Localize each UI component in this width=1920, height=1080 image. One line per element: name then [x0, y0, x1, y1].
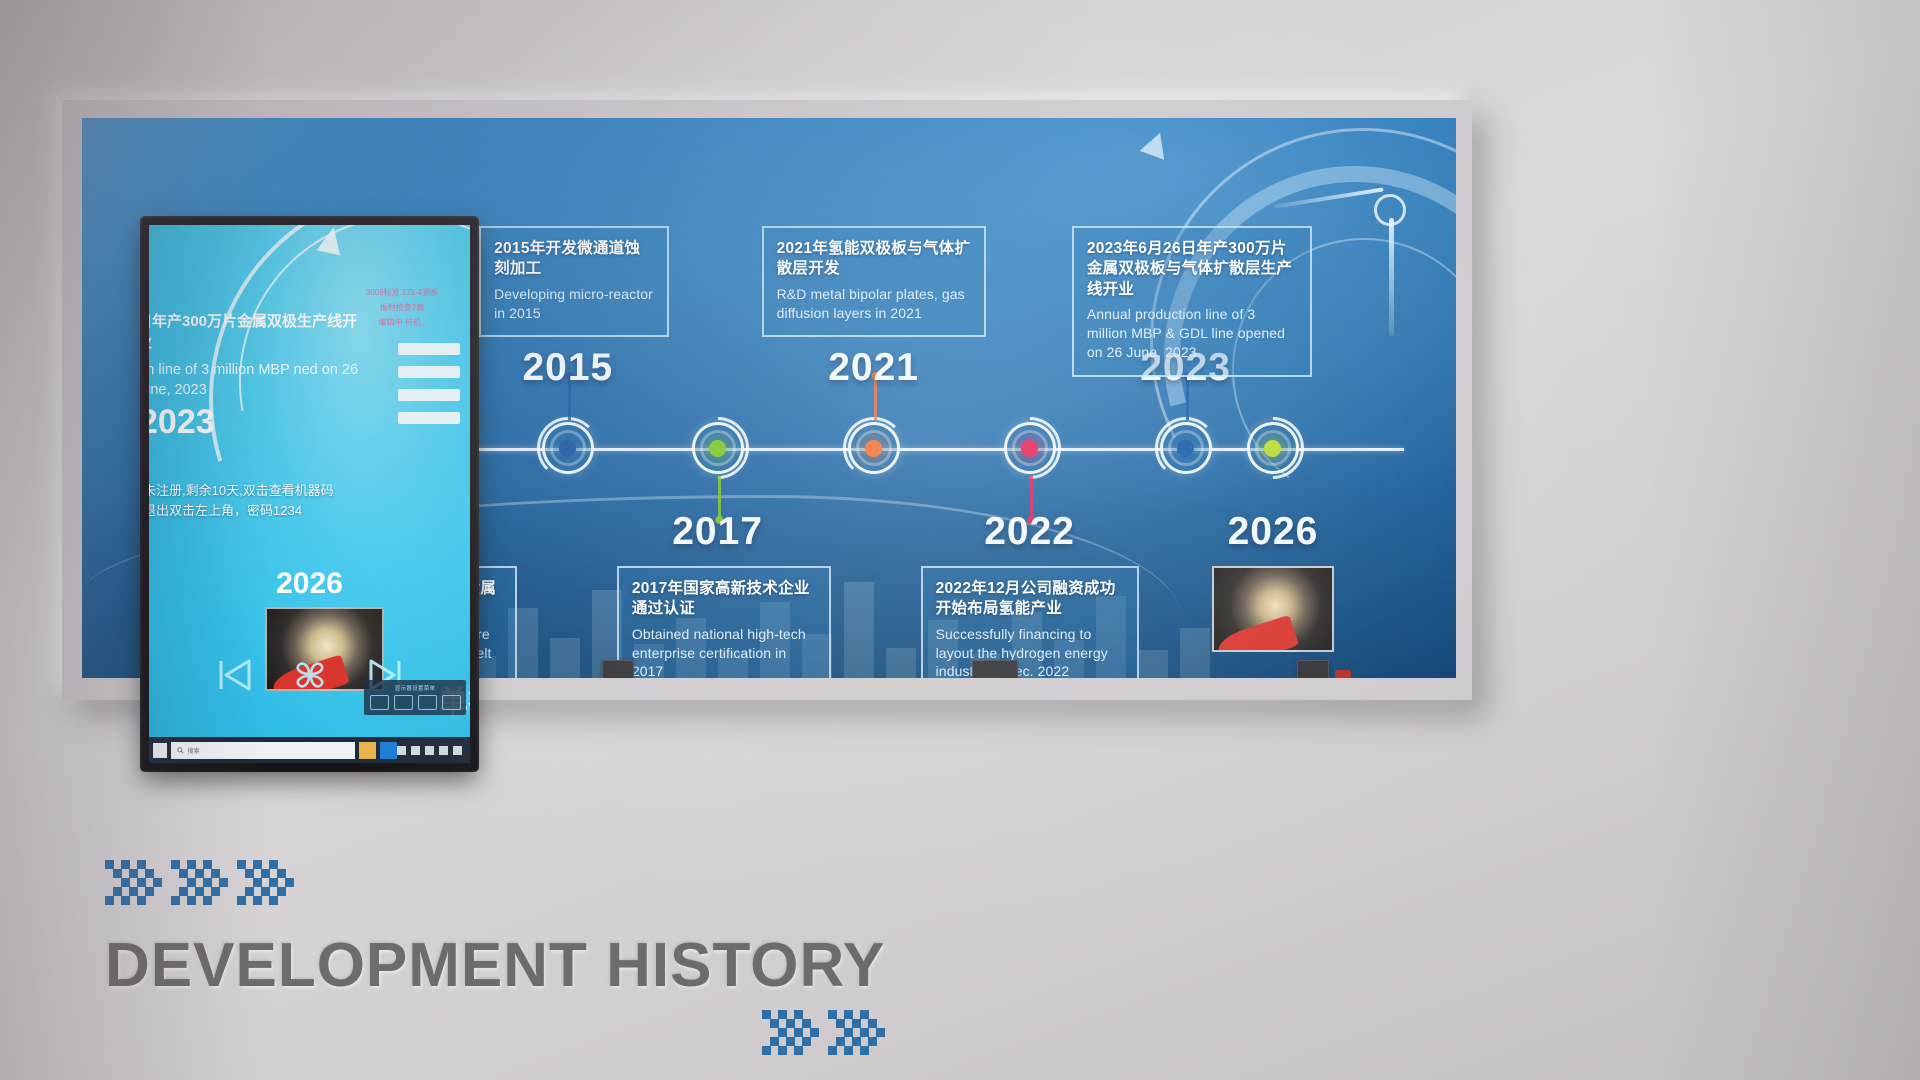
ime-icon[interactable]: [439, 746, 448, 755]
chevron-pixel: [269, 896, 278, 905]
chevron-pixel: [794, 1010, 803, 1019]
av-socket-1: [602, 660, 634, 678]
picture-icon[interactable]: [418, 695, 437, 710]
exhibit-wall-scene: 20022002年研发和生产过滤器R&D filters in 20022005…: [0, 0, 1920, 1080]
lcd-license-notice: 未注册,剩余10天,双击查看机器码 退出双击左上角，密码1234: [149, 481, 403, 520]
chevron-pixel: [770, 1037, 779, 1046]
chevron-pixel: [836, 1019, 845, 1028]
chevron-pixel: [121, 878, 130, 887]
osd-icon-row[interactable]: [367, 695, 463, 710]
timeline-card-2015: 2015年开发微通道蚀刻加工Developing micro-reactor i…: [479, 226, 669, 337]
chevron-pixel: [145, 887, 154, 896]
lcd-side-button-1[interactable]: [398, 343, 460, 355]
lcd-year-2026: 2026: [149, 567, 470, 601]
search-icon: [177, 747, 184, 754]
chevron-pixel: [137, 878, 146, 887]
chevron-pixel: [277, 887, 286, 896]
card-title-cn: 2021年氢能双极板与气体扩散层开发: [777, 239, 971, 280]
chevron-pixel: [179, 869, 188, 878]
display-niche: 20022002年研发和生产过滤器R&D filters in 20022005…: [62, 100, 1472, 700]
lcd-side-button-3[interactable]: [398, 389, 460, 401]
monitor-osd-menu[interactable]: 显示器设置菜单: [364, 680, 466, 715]
node-ring: [550, 430, 586, 466]
chevron-row-bottom: [762, 1010, 878, 1054]
chevron-pixel: [245, 869, 254, 878]
card-title-en: Successfully financing to layout the hyd…: [936, 625, 1124, 678]
photo-red-shape: [1215, 615, 1299, 652]
chevron-pixel: [844, 1028, 853, 1037]
chevron-pixel: [121, 896, 130, 905]
timeline-node-2023: [1160, 422, 1212, 474]
timeline-year-2017: 2017: [672, 510, 763, 554]
chevron-pixel: [810, 1028, 819, 1037]
chevron-pixel: [195, 887, 204, 896]
chevron-up-icon[interactable]: [397, 746, 406, 755]
chevron-pixel: [786, 1037, 795, 1046]
timeline-year-2015: 2015: [522, 346, 613, 390]
chevron-pixel: [219, 878, 228, 887]
chevron-pixel: [762, 1010, 771, 1019]
chevron-pixel: [269, 878, 278, 887]
node-ring: [856, 430, 892, 466]
node-ring: [1168, 430, 1204, 466]
chevron-pixel: [137, 860, 146, 869]
chevron-pixel: [145, 869, 154, 878]
chevron-pixel: [203, 860, 212, 869]
chevron-pixel: [836, 1037, 845, 1046]
chevron-pixel: [860, 1010, 869, 1019]
chevron-pixel: [187, 896, 196, 905]
double-chevron-icon: [828, 1010, 878, 1054]
chevron-pixel: [802, 1037, 811, 1046]
card-title-en: R&D metal bipolar plates, gas diffusion …: [777, 285, 971, 323]
chevron-pixel: [828, 1046, 837, 1055]
chevron-pixel: [269, 860, 278, 869]
chevron-pixel: [860, 1028, 869, 1037]
card-title-en: Annual production line of 3 million MBP …: [1087, 305, 1297, 361]
brightness-icon[interactable]: [394, 695, 413, 710]
timeline-card-2023: 2023年6月26日年产300万片金属双极板与气体扩散层生产线开业Annual …: [1072, 226, 1312, 377]
chevron-pixel: [794, 1046, 803, 1055]
chevron-pixel: [245, 887, 254, 896]
timeline-year-2022: 2022: [984, 510, 1075, 554]
search-input[interactable]: 搜索: [171, 742, 355, 759]
chevron-pixel: [277, 869, 286, 878]
chevron-pixel: [129, 869, 138, 878]
file-explorer-icon[interactable]: [359, 742, 376, 759]
chevron-pixel: [844, 1010, 853, 1019]
card-title-cn: 2023年6月26日年产300万片金属双极板与气体扩散层生产线开业: [1087, 239, 1297, 300]
lcd-headline-en: ion line of 3 million MBP ned on 26 June…: [149, 361, 375, 400]
red-cable: [1335, 670, 1351, 678]
chevron-pixel: [171, 896, 180, 905]
lcd-headline-cn: 日年产300万片金属双极生产线开业: [149, 311, 367, 353]
node-ring: [700, 430, 736, 466]
lcd-display-panel[interactable]: 3009标准 171-4钢板 板材检查2套 编辑中 待机.. 日年产300万片金…: [142, 218, 477, 770]
timeline-node-2017: [692, 422, 744, 474]
lcd-notice-line2: 退出双击左上角，密码1234: [149, 501, 403, 521]
card-title-cn: 2015年开发微通道蚀刻加工: [494, 239, 654, 280]
search-placeholder: 搜索: [188, 746, 200, 755]
timeline-card-2021: 2021年氢能双极板与气体扩散层开发R&D metal bipolar plat…: [762, 226, 986, 337]
chevron-pixel: [868, 1037, 877, 1046]
skip-previous-icon[interactable]: [215, 658, 255, 697]
chevron-pixel: [129, 887, 138, 896]
chevron-pixel: [852, 1019, 861, 1028]
timeline-node-2026: [1247, 422, 1299, 474]
chevron-pixel: [187, 860, 196, 869]
av-socket-2: [972, 660, 1018, 678]
chevron-pixel: [778, 1046, 787, 1055]
chevron-pixel: [852, 1037, 861, 1046]
lcd-notice-line1: 未注册,剩余10天,双击查看机器码: [149, 481, 403, 501]
chevron-pixel: [253, 860, 262, 869]
windows-start-icon[interactable]: [153, 743, 167, 758]
chevron-pixel: [261, 887, 270, 896]
system-tray[interactable]: [397, 746, 466, 755]
osd-title: 显示器设置菜单: [367, 684, 463, 692]
network-icon[interactable]: [411, 746, 420, 755]
lcd-side-button-2[interactable]: [398, 366, 460, 378]
chevron-pixel: [762, 1046, 771, 1055]
lcd-side-buttons[interactable]: [398, 343, 460, 435]
chevron-pixel: [211, 887, 220, 896]
windows-taskbar[interactable]: 搜索: [149, 737, 470, 763]
double-chevron-icon: [762, 1010, 812, 1054]
chevron-pixel: [203, 878, 212, 887]
chevron-pixel: [285, 878, 294, 887]
chevron-pixel: [786, 1019, 795, 1028]
timeline-year-2026: 2026: [1228, 510, 1319, 554]
card-title-cn: 2022年12月公司融资成功开始布局氢能产业: [936, 579, 1124, 620]
timeline-photo-2026: [1212, 566, 1334, 652]
card-title-en: Developing micro-reactor in 2015: [494, 285, 654, 323]
chevron-pixel: [113, 887, 122, 896]
chevron-pixel: [261, 869, 270, 878]
volume-icon[interactable]: [425, 746, 434, 755]
input-icon[interactable]: [442, 695, 461, 710]
timeline-node-2022: [1004, 422, 1056, 474]
chevron-pixel: [203, 896, 212, 905]
chevron-pixel: [237, 896, 246, 905]
chevron-pixel: [828, 1010, 837, 1019]
chevron-pixel: [253, 896, 262, 905]
double-chevron-icon: [237, 860, 287, 904]
card-title-cn: 2017年国家高新技术企业通过认证: [632, 579, 816, 620]
timeline-card-2017: 2017年国家高新技术企业通过认证Obtained national high-…: [617, 566, 831, 678]
edge-browser-icon[interactable]: [380, 742, 397, 759]
chevron-pixel: [778, 1010, 787, 1019]
chevron-pixel: [844, 1046, 853, 1055]
chevron-pixel: [195, 869, 204, 878]
timeline-node-2021: [848, 422, 900, 474]
chevron-pixel: [121, 860, 130, 869]
page-title: DEVELOPMENT HISTORY: [105, 930, 885, 1001]
lcd-screen[interactable]: 3009标准 171-4钢板 板材检查2套 编辑中 待机.. 日年产300万片金…: [149, 225, 470, 763]
chevron-pixel: [802, 1019, 811, 1028]
battery-icon[interactable]: [453, 746, 462, 755]
av-socket-3: [1297, 660, 1329, 678]
node-ring: [1012, 430, 1048, 466]
chevron-pixel: [794, 1028, 803, 1037]
chevron-pixel: [113, 869, 122, 878]
chevron-pixel: [153, 878, 162, 887]
lcd-pink-line1: 3009标准 171-4钢板: [342, 285, 462, 300]
double-chevron-icon: [105, 860, 155, 904]
timeline-year-2021: 2021: [828, 346, 919, 390]
chevron-pixel: [770, 1019, 779, 1028]
lcd-headline-year: 2023: [149, 403, 215, 442]
chevron-pixel: [179, 887, 188, 896]
chevron-pixel: [253, 878, 262, 887]
chevron-pixel: [187, 878, 196, 887]
chevron-pixel: [171, 860, 180, 869]
lcd-side-button-4[interactable]: [398, 412, 460, 424]
chevron-pixel: [105, 860, 114, 869]
chevron-pixel: [860, 1046, 869, 1055]
node-ring: [1255, 430, 1291, 466]
chevron-pixel: [105, 896, 114, 905]
grid-menu-icon[interactable]: [293, 658, 327, 697]
chevron-pixel: [778, 1028, 787, 1037]
chevron-row-top: [105, 860, 287, 904]
monitor-icon[interactable]: [370, 695, 389, 710]
chevron-pixel: [211, 869, 220, 878]
chevron-pixel: [868, 1019, 877, 1028]
chevron-pixel: [137, 896, 146, 905]
card-title-en: Obtained national high-tech enterprise c…: [632, 625, 816, 678]
double-chevron-icon: [171, 860, 221, 904]
chevron-pixel: [237, 860, 246, 869]
timeline-node-2015: [542, 422, 594, 474]
timeline-card-2022: 2022年12月公司融资成功开始布局氢能产业Successfully finan…: [921, 566, 1139, 678]
chevron-pixel: [876, 1028, 885, 1037]
